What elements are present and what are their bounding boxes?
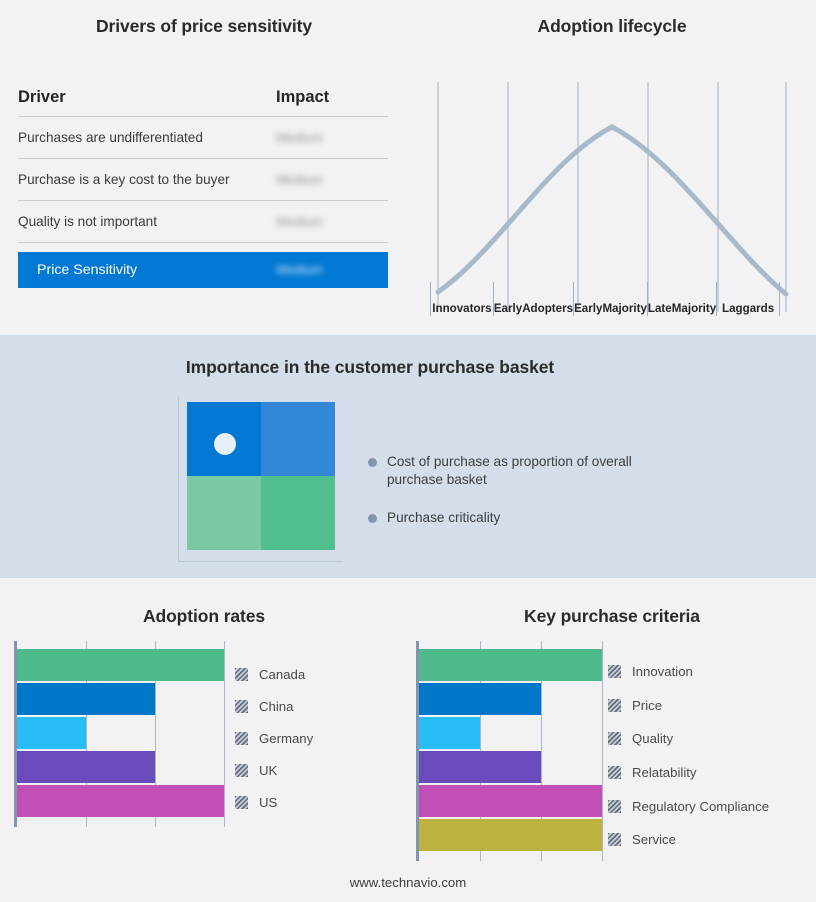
legend-item: Relatability bbox=[608, 756, 769, 790]
position-marker-dot bbox=[214, 433, 236, 455]
drivers-panel-title: Drivers of price sensitivity bbox=[0, 16, 408, 37]
legend-item: Price bbox=[608, 689, 769, 723]
bar-row bbox=[17, 785, 224, 817]
bar-canada bbox=[17, 649, 224, 681]
impact-value: Medium bbox=[276, 171, 388, 189]
legend-item: China bbox=[235, 690, 313, 722]
impact-value-text: Medium bbox=[276, 130, 323, 145]
quadrant-bottom-left bbox=[187, 476, 261, 550]
adoption-rates-plot bbox=[14, 641, 221, 827]
legend-item: Germany bbox=[235, 722, 313, 754]
bar-relatability bbox=[419, 751, 541, 783]
drivers-table: Driver Impact Purchases are undifferenti… bbox=[18, 88, 388, 288]
impact-value: Medium bbox=[276, 213, 388, 231]
bar-quality bbox=[419, 717, 480, 749]
legend-label: US bbox=[259, 795, 277, 810]
legend-hatch-swatch-icon bbox=[608, 732, 621, 745]
adoption-bell-curve bbox=[438, 127, 786, 294]
legend-label: China bbox=[259, 699, 293, 714]
price-sensitivity-impact: Medium bbox=[276, 261, 388, 279]
purchase-basket-legend: Cost of purchase as proportion of overal… bbox=[368, 453, 708, 547]
purchase-basket-panel: Importance in the customer purchase bask… bbox=[0, 335, 816, 578]
bar-us bbox=[17, 785, 224, 817]
lifecycle-gridlines bbox=[438, 82, 786, 312]
quadrant-matrix bbox=[178, 397, 343, 562]
driver-label: Purchase is a key cost to the buyer bbox=[18, 172, 276, 187]
bar-uk bbox=[17, 751, 155, 783]
legend-item: Service bbox=[608, 823, 769, 857]
lifecycle-stage-laggards: Laggards bbox=[716, 282, 780, 316]
footer-url: www.technavio.com bbox=[0, 875, 816, 890]
bar-row bbox=[419, 717, 602, 749]
legend-item: Canada bbox=[235, 658, 313, 690]
legend-hatch-swatch-icon bbox=[608, 800, 621, 813]
legend-hatch-swatch-icon bbox=[608, 766, 621, 779]
matrix-x-axis bbox=[178, 561, 343, 562]
legend-hatch-swatch-icon bbox=[235, 732, 248, 745]
lifecycle-stage-early-adopters: EarlyAdopters bbox=[493, 282, 573, 316]
legend-item: Innovation bbox=[608, 655, 769, 689]
price-sensitivity-highlight-row: Price Sensitivity Medium bbox=[18, 252, 388, 288]
bell-curve-svg bbox=[430, 82, 794, 312]
legend-item: Regulatory Compliance bbox=[608, 789, 769, 823]
quadrant-bottom-right bbox=[261, 476, 335, 550]
impact-value-text: Medium bbox=[276, 214, 323, 229]
legend-label: Innovation bbox=[632, 664, 693, 679]
table-row: Quality is not important Medium bbox=[18, 201, 388, 242]
bar-germany bbox=[17, 717, 86, 749]
table-row: Purchase is a key cost to the buyer Medi… bbox=[18, 159, 388, 200]
gridline bbox=[224, 641, 225, 827]
driver-label: Purchases are undifferentiated bbox=[18, 130, 276, 145]
legend-hatch-swatch-icon bbox=[235, 764, 248, 777]
legend-label: Canada bbox=[259, 667, 305, 682]
gridline bbox=[602, 641, 603, 861]
bar-row bbox=[419, 683, 602, 715]
driver-label: Quality is not important bbox=[18, 214, 276, 229]
key-purchase-criteria-plot bbox=[416, 641, 599, 861]
legend-hatch-swatch-icon bbox=[235, 700, 248, 713]
quadrant-grid bbox=[187, 402, 335, 550]
key-purchase-criteria-legend: InnovationPriceQualityRelatabilityRegula… bbox=[608, 655, 769, 857]
impact-value-text: Medium bbox=[276, 172, 323, 187]
legend-hatch-swatch-icon bbox=[608, 665, 621, 678]
adoption-rates-legend: CanadaChinaGermanyUKUS bbox=[235, 658, 313, 818]
bar-regulatory-compliance bbox=[419, 785, 602, 817]
bar-row bbox=[17, 717, 224, 749]
legend-label: Relatability bbox=[632, 765, 697, 780]
legend-label: Germany bbox=[259, 731, 313, 746]
legend-item: Quality bbox=[608, 722, 769, 756]
drivers-panel: Drivers of price sensitivity Driver Impa… bbox=[0, 0, 408, 335]
price-sensitivity-label: Price Sensitivity bbox=[37, 262, 276, 278]
impact-value-text: Medium bbox=[276, 262, 323, 277]
bullet-icon bbox=[368, 458, 377, 467]
legend-item: Cost of purchase as proportion of overal… bbox=[368, 453, 708, 489]
legend-item: US bbox=[235, 786, 313, 818]
row-divider bbox=[18, 242, 388, 243]
legend-label: Service bbox=[632, 832, 676, 847]
bar-row bbox=[419, 751, 602, 783]
legend-label: UK bbox=[259, 763, 277, 778]
legend-hatch-swatch-icon bbox=[235, 796, 248, 809]
lifecycle-stage-late-majority: LateMajority bbox=[647, 282, 716, 316]
lifecycle-panel-title: Adoption lifecycle bbox=[408, 16, 816, 37]
lifecycle-stage-innovators: Innovators bbox=[430, 282, 493, 316]
key-purchase-criteria-title: Key purchase criteria bbox=[408, 606, 816, 627]
legend-label: Cost of purchase as proportion of overal… bbox=[387, 453, 649, 489]
legend-item: UK bbox=[235, 754, 313, 786]
purchase-basket-panel-title: Importance in the customer purchase bask… bbox=[0, 357, 740, 378]
table-row: Purchases are undifferentiated Medium bbox=[18, 117, 388, 158]
adoption-rates-panel: Adoption rates CanadaChinaGermanyUKUS bbox=[0, 578, 408, 902]
legend-label: Price bbox=[632, 698, 662, 713]
lifecycle-curve-area bbox=[430, 82, 794, 312]
legend-hatch-swatch-icon bbox=[608, 699, 621, 712]
column-header-impact: Impact bbox=[276, 88, 388, 107]
legend-hatch-swatch-icon bbox=[235, 668, 248, 681]
bar-price bbox=[419, 683, 541, 715]
legend-label: Quality bbox=[632, 731, 673, 746]
legend-item: Purchase criticality bbox=[368, 509, 708, 527]
drivers-table-header: Driver Impact bbox=[18, 88, 388, 116]
bar-innovation bbox=[419, 649, 602, 681]
infographic-page: Drivers of price sensitivity Driver Impa… bbox=[0, 0, 816, 902]
legend-label: Regulatory Compliance bbox=[632, 799, 769, 814]
bar-row bbox=[419, 649, 602, 681]
lifecycle-stage-early-majority: EarlyMajority bbox=[573, 282, 647, 316]
bar-row bbox=[419, 785, 602, 817]
matrix-y-axis bbox=[178, 397, 179, 562]
bullet-icon bbox=[368, 514, 377, 523]
column-header-driver: Driver bbox=[18, 88, 276, 107]
bar-row bbox=[419, 819, 602, 851]
legend-label: Purchase criticality bbox=[387, 509, 500, 527]
bar-service bbox=[419, 819, 602, 851]
quadrant-top-right bbox=[261, 402, 335, 476]
key-purchase-criteria-panel: Key purchase criteria InnovationPriceQua… bbox=[408, 578, 816, 902]
bar-row bbox=[17, 751, 224, 783]
lifecycle-stage-labels: Innovators EarlyAdopters EarlyMajority L… bbox=[430, 282, 780, 316]
bar-china bbox=[17, 683, 155, 715]
bar-row bbox=[17, 649, 224, 681]
impact-value: Medium bbox=[276, 129, 388, 147]
lifecycle-panel: Adoption lifecycle Innovators EarlyAdopt… bbox=[408, 0, 816, 335]
legend-hatch-swatch-icon bbox=[608, 833, 621, 846]
adoption-rates-title: Adoption rates bbox=[0, 606, 408, 627]
bar-row bbox=[17, 683, 224, 715]
